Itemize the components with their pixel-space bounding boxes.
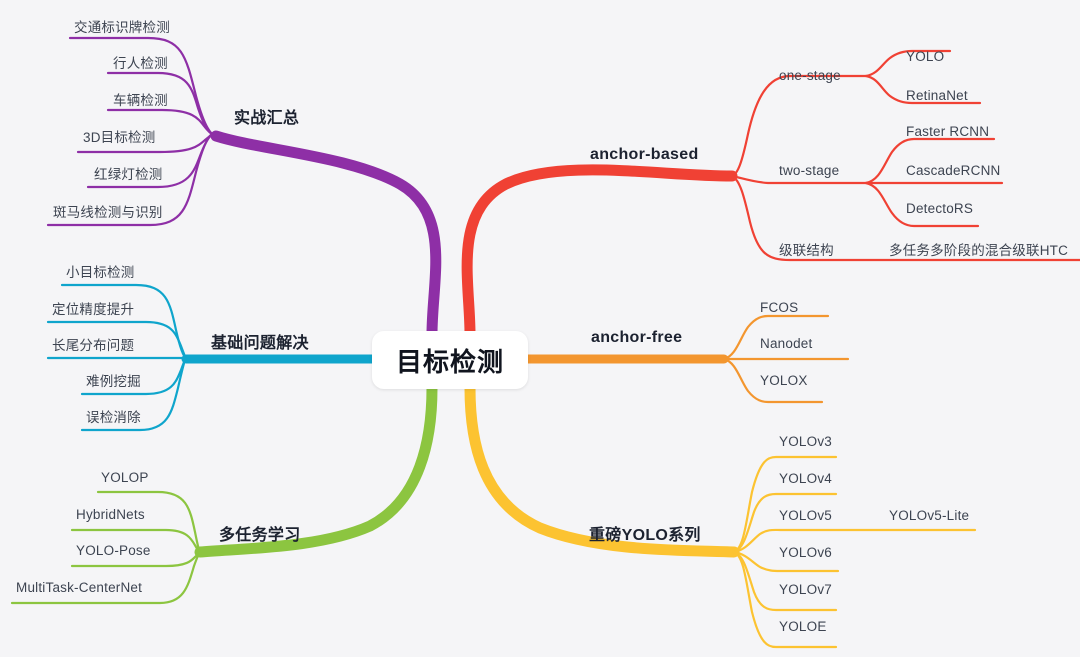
node-yolo-v5[interactable]: YOLOv5 bbox=[779, 508, 832, 523]
node-yolo-v4[interactable]: YOLOv4 bbox=[779, 471, 832, 486]
node-one-stage-yolo[interactable]: YOLO bbox=[906, 49, 944, 64]
node-practice-0[interactable]: 交通标识牌检测 bbox=[74, 16, 170, 36]
node-anchor-based-one-stage[interactable]: one-stage bbox=[779, 68, 841, 83]
node-yolo-v7[interactable]: YOLOv7 bbox=[779, 582, 832, 597]
branch-label-practice[interactable]: 实战汇总 bbox=[234, 104, 299, 128]
trunk-anchor-based bbox=[467, 170, 732, 334]
connectors-anchor-free bbox=[724, 316, 848, 402]
node-yolo-v5-lite[interactable]: YOLOv5-Lite bbox=[889, 508, 969, 523]
node-two-stage-cascade-rcnn[interactable]: CascadeRCNN bbox=[906, 163, 1000, 178]
node-multitask-3[interactable]: MultiTask-CenterNet bbox=[16, 580, 142, 595]
connectors-yolo bbox=[734, 457, 975, 647]
node-practice-2[interactable]: 车辆检测 bbox=[113, 89, 168, 109]
node-multitask-2[interactable]: YOLO-Pose bbox=[76, 543, 151, 558]
root-label: 目标检测 bbox=[396, 342, 504, 379]
branch-label-anchor-based[interactable]: anchor-based bbox=[590, 146, 699, 164]
branch-label-yolo-series[interactable]: 重磅YOLO系列 bbox=[589, 521, 701, 545]
node-basics-3[interactable]: 难例挖掘 bbox=[86, 370, 141, 390]
node-anchor-based-cascade[interactable]: 级联结构 bbox=[779, 239, 834, 259]
node-basics-4[interactable]: 误检消除 bbox=[86, 406, 141, 426]
node-yolo-v6[interactable]: YOLOv6 bbox=[779, 545, 832, 560]
node-practice-5[interactable]: 斑马线检测与识别 bbox=[53, 201, 163, 221]
node-anchor-free-nanodet[interactable]: Nanodet bbox=[760, 336, 812, 351]
branch-label-basics[interactable]: 基础问题解决 bbox=[211, 329, 309, 353]
conn-ab-one-stage bbox=[732, 76, 866, 176]
node-one-stage-retinanet[interactable]: RetinaNet bbox=[906, 88, 968, 103]
node-anchor-free-yolox[interactable]: YOLOX bbox=[760, 373, 808, 388]
conn-yolo-2 bbox=[734, 530, 975, 552]
node-two-stage-faster-rcnn[interactable]: Faster RCNN bbox=[906, 124, 989, 139]
node-practice-4[interactable]: 红绿灯检测 bbox=[94, 163, 163, 183]
node-yolo-e[interactable]: YOLOE bbox=[779, 619, 827, 634]
node-multitask-0[interactable]: YOLOP bbox=[101, 470, 149, 485]
node-practice-1[interactable]: 行人检测 bbox=[113, 52, 168, 72]
node-two-stage-detectors[interactable]: DetectoRS bbox=[906, 201, 973, 216]
node-multitask-1[interactable]: HybridNets bbox=[76, 507, 145, 522]
node-anchor-free-fcos[interactable]: FCOS bbox=[760, 300, 798, 315]
node-practice-3[interactable]: 3D目标检测 bbox=[83, 126, 155, 146]
trunk-practice bbox=[216, 136, 436, 334]
branch-label-anchor-free[interactable]: anchor-free bbox=[591, 329, 682, 347]
node-basics-1[interactable]: 定位精度提升 bbox=[52, 298, 134, 318]
node-cascade-htc[interactable]: 多任务多阶段的混合级联HTC bbox=[889, 239, 1068, 259]
root-node[interactable]: 目标检测 bbox=[372, 331, 528, 389]
node-yolo-v3[interactable]: YOLOv3 bbox=[779, 434, 832, 449]
node-basics-0[interactable]: 小目标检测 bbox=[66, 261, 135, 281]
node-anchor-based-two-stage[interactable]: two-stage bbox=[779, 163, 839, 178]
conn-multitask-3 bbox=[12, 552, 200, 603]
node-basics-2[interactable]: 长尾分布问题 bbox=[52, 334, 134, 354]
branch-label-multitask[interactable]: 多任务学习 bbox=[219, 521, 301, 545]
